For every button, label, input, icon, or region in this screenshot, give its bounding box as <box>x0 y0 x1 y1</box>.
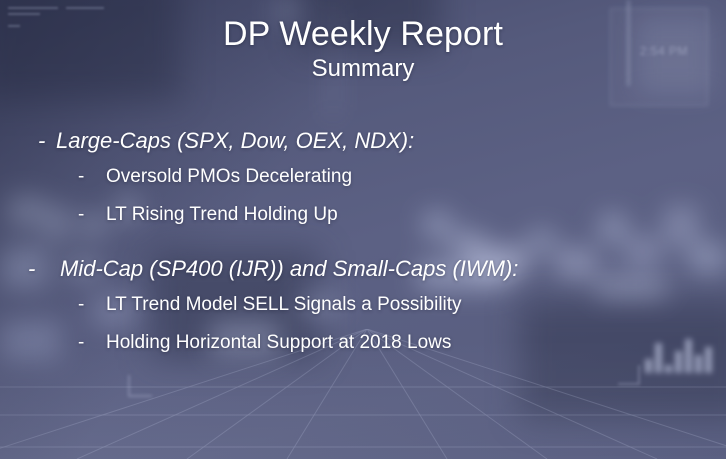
dash-bullet-icon: - <box>78 204 106 226</box>
list-item: - Holding Horizontal Support at 2018 Low… <box>0 332 726 354</box>
list-item-label: LT Trend Model SELL Signals a Possibilit… <box>106 294 462 316</box>
section-spacer <box>0 242 726 256</box>
section-heading-large-caps: - Large-Caps (SPX, Dow, OEX, NDX): <box>0 128 726 154</box>
page-title: DP Weekly Report <box>0 15 726 53</box>
title-block: DP Weekly Report Summary <box>0 0 726 84</box>
section-heading-text: Large-Caps (SPX, Dow, OEX, NDX): <box>56 128 414 154</box>
presentation-slide: 2:54 PM DP Weekly Report Summary - Large… <box>0 0 726 459</box>
list-item: - Oversold PMOs Decelerating <box>0 166 726 188</box>
dash-bullet-icon: - <box>78 166 106 188</box>
list-item: - LT Trend Model SELL Signals a Possibil… <box>0 294 726 316</box>
list-item: - LT Rising Trend Holding Up <box>0 204 726 226</box>
section-heading-text: Mid-Cap (SP400 (IJR)) and Small-Caps (IW… <box>60 256 518 282</box>
dash-bullet-icon: - <box>38 128 56 154</box>
page-subtitle: Summary <box>0 55 726 84</box>
bullet-list: - Large-Caps (SPX, Dow, OEX, NDX): - Ove… <box>0 128 726 354</box>
slide-content: DP Weekly Report Summary - Large-Caps (S… <box>0 0 726 459</box>
list-item-label: LT Rising Trend Holding Up <box>106 204 338 226</box>
dash-bullet-icon: - <box>78 332 106 354</box>
dash-bullet-icon: - <box>28 256 60 282</box>
section-heading-mid-small-caps: - Mid-Cap (SP400 (IJR)) and Small-Caps (… <box>0 256 726 282</box>
list-item-label: Holding Horizontal Support at 2018 Lows <box>106 332 451 354</box>
dash-bullet-icon: - <box>78 294 106 316</box>
list-item-label: Oversold PMOs Decelerating <box>106 166 352 188</box>
